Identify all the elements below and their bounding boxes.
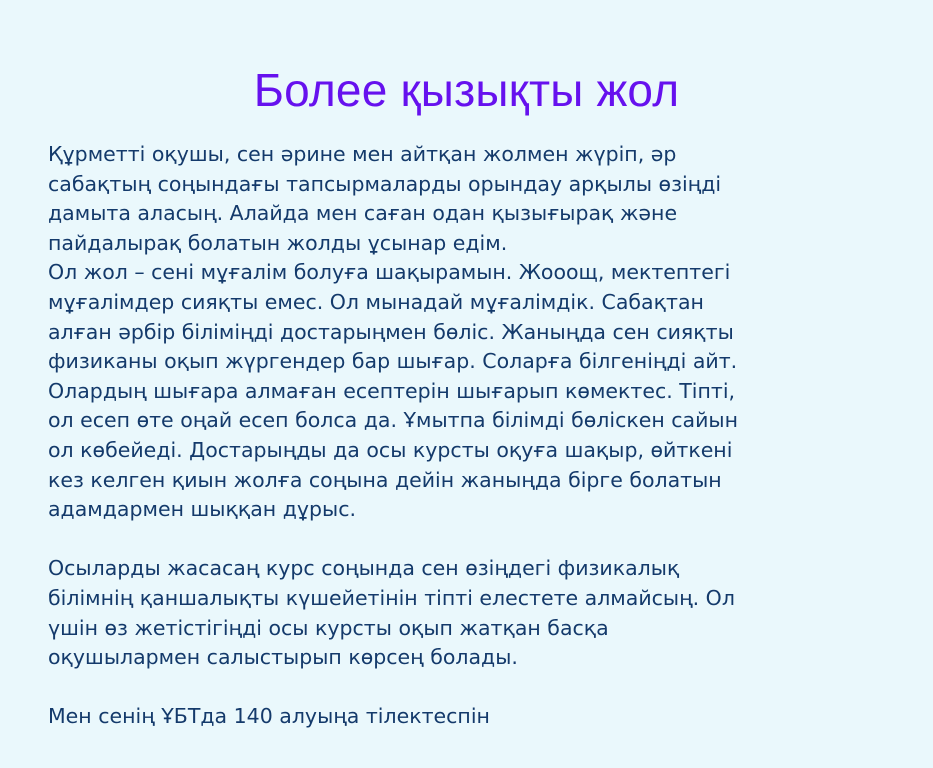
presentation-slide: Более қызықты жол Құрметті оқушы, сен әр… <box>0 0 933 768</box>
body-paragraph-2: Ол жол – сені мұғалім болуға шақырамын. … <box>48 258 848 524</box>
body-paragraph-1: Құрметті оқушы, сен әрине мен айтқан жол… <box>48 140 848 258</box>
body-paragraph-4: Мен сенің ҰБТда 140 алуыңа тілектеспін <box>48 702 848 732</box>
body-paragraph-3: Осыларды жасасаң курс соңында сен өзіңде… <box>48 554 848 672</box>
paragraph-spacer <box>48 673 848 703</box>
paragraph-spacer <box>48 525 848 555</box>
slide-body-text: Құрметті оқушы, сен әрине мен айтқан жол… <box>48 140 848 732</box>
slide-title: Более қызықты жол <box>0 62 933 118</box>
